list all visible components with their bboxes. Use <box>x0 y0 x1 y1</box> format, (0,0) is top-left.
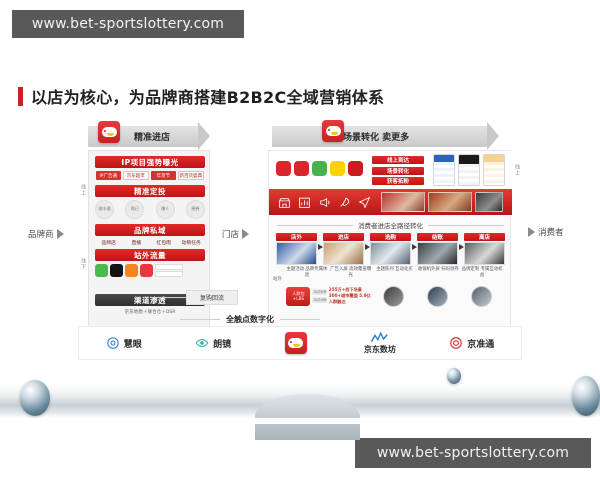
jd-dog-icon <box>285 332 307 354</box>
ip-chip[interactable]: IP广告通 <box>96 171 121 180</box>
detail-caption: 收银机外屏 扫码领券 <box>416 267 460 280</box>
divider-line <box>180 319 220 320</box>
actor-store: 门店 <box>222 228 249 240</box>
meituan-icon[interactable] <box>330 161 345 176</box>
external-app-row <box>95 264 205 277</box>
phone-mockup <box>483 154 505 186</box>
stage-thumb <box>417 242 458 265</box>
private-domain-items: 品牌店 直播 红包雨 动销任务 <box>95 239 205 246</box>
capability-strip <box>269 189 512 215</box>
stage-label: 选购 <box>370 233 411 241</box>
repurchase-loop-label: 复购回流 <box>186 290 238 305</box>
left-axis-offline: 线下 <box>80 258 87 270</box>
private-domain-item: 动销任务 <box>178 239 206 246</box>
right-axis-online: 线上 <box>514 164 521 176</box>
section-title-precision: 精准定投 <box>95 185 205 197</box>
detail-photo <box>383 286 404 307</box>
digital-title-row: 全触点数字化 <box>180 314 320 325</box>
digital-tool-jdshufang[interactable]: 京东数坊 <box>364 331 396 355</box>
divider-line <box>280 319 320 320</box>
right-axis-offline: 站外 <box>272 277 283 283</box>
wechat-icon[interactable] <box>95 264 108 277</box>
banner-full-scene: 全场景转化 卖更多 <box>272 126 487 147</box>
divider-line <box>428 225 504 226</box>
stage-label: 店外 <box>276 233 317 241</box>
stage-thumb <box>464 242 505 265</box>
precision-circle[interactable]: 购已 <box>125 200 144 219</box>
detail-body <box>416 282 460 310</box>
left-panel: IP项目强势曝光 IP广告通 京东超市 年货节 新百货盛典 精准定投 顺丰通 购… <box>88 150 210 338</box>
target-ring-icon <box>449 336 463 350</box>
digital-tool-label: 京准通 <box>467 337 494 350</box>
title-text: 以店为核心，为品牌商搭建B2B2C全域营销体系 <box>31 84 384 108</box>
stage-thumb <box>370 242 411 265</box>
detail-stats: 255万+线下场景 300+城市覆盖 5.9亿人群触达 <box>329 287 373 305</box>
digital-tool-label: 朗镜 <box>213 337 231 350</box>
diagram-canvas: 品牌商 门店 消费者 精准进店 全场景转化 卖更多 线上 线下 IP项目强势曝光… <box>0 118 600 368</box>
ip-chip[interactable]: 年货节 <box>151 171 176 180</box>
arrow-right-icon <box>242 229 249 239</box>
arrow-right-icon <box>57 229 64 239</box>
eye-scan-icon <box>195 336 209 350</box>
actor-brand: 品牌商 <box>28 228 64 240</box>
digital-tool-jd-logo[interactable] <box>285 332 311 354</box>
circle-eye-icon <box>106 336 120 350</box>
stage-item[interactable]: 离店 <box>464 233 505 265</box>
ip-chip[interactable]: 京东超市 <box>123 171 150 180</box>
stage-label: 进店 <box>323 233 364 241</box>
private-domain-item: 直播 <box>123 239 151 246</box>
phone-mockups <box>433 154 505 186</box>
banner-right-label: 全场景转化 卖更多 <box>334 130 409 143</box>
glass-bead-icon <box>572 376 600 416</box>
ip-chip[interactable]: 新百货盛典 <box>178 171 205 180</box>
detail-caption: 品牌定制 专属互动权益 <box>460 267 504 280</box>
chart-bars-icon[interactable] <box>298 196 311 209</box>
video-platform-icons[interactable] <box>155 264 183 277</box>
right-tag[interactable]: 场景转化 <box>372 167 424 175</box>
pill: 到店领券 <box>312 297 327 303</box>
digital-tool-label: 慧眼 <box>124 337 142 350</box>
detail-col: 广告入屏 高效覆盖曝光 255万+线下场景 300+城市覆盖 5.9亿人群触达 <box>329 267 373 310</box>
jd-app-icon[interactable] <box>276 161 291 176</box>
left-axis-online: 线上 <box>80 184 87 196</box>
stage-thumb <box>323 242 364 265</box>
paper-plane-icon[interactable] <box>358 196 371 209</box>
lbs-badge: 人群包 +LBS <box>286 287 310 306</box>
actor-consumer-label: 消费者 <box>538 226 564 238</box>
private-domain-item: 品牌店 <box>95 239 123 246</box>
kuaishou-icon[interactable] <box>125 264 138 277</box>
band-mask <box>0 418 600 424</box>
detail-caption: 主题陈列 互动化买 <box>373 267 417 280</box>
divider-line <box>277 225 353 226</box>
stage-item[interactable]: 店外 <box>276 233 317 265</box>
coupon-icon[interactable] <box>348 161 363 176</box>
stage-label: 离店 <box>464 233 505 241</box>
watermark-bottom: www.bet-sportslottery.com <box>355 438 591 468</box>
jd-dog-icon <box>322 120 344 142</box>
glass-bead-icon <box>20 380 50 416</box>
capability-screenshots <box>381 192 503 212</box>
right-panel: 线上到达 场景转化 获客拓粉 <box>268 150 511 338</box>
glossy-dome <box>255 394 360 440</box>
actor-store-label: 门店 <box>222 228 239 240</box>
private-domain-item: 红包雨 <box>150 239 178 246</box>
digital-tool-huiyan[interactable]: 慧眼 <box>106 336 142 350</box>
watermark-top: www.bet-sportslottery.com <box>12 10 244 38</box>
digital-tool-langjing[interactable]: 朗镜 <box>195 336 231 350</box>
right-tag-list: 线上到达 场景转化 获客拓粉 <box>372 156 424 188</box>
digital-tool-jingzhuntong[interactable]: 京准通 <box>449 336 494 350</box>
eleme-icon[interactable] <box>312 161 327 176</box>
detail-col: 主题陈列 互动化买 <box>373 267 417 310</box>
glass-bead-icon <box>447 368 461 384</box>
campaign-thumb <box>381 192 425 212</box>
title-accent-bar <box>18 87 23 106</box>
path-title-row: 消费者进店全路径转化 <box>277 219 504 231</box>
ip-chip-row: IP广告通 京东超市 年货节 新百货盛典 <box>95 171 205 180</box>
detail-col: 收银机外屏 扫码领券 <box>416 267 460 310</box>
digital-tool-label: 京东数坊 <box>364 344 396 355</box>
right-tag[interactable]: 获客拓粉 <box>372 177 424 185</box>
detail-col: 品牌定制 专属互动权益 <box>460 267 504 310</box>
precision-circle[interactable]: 圈券 <box>186 200 205 219</box>
stage-item[interactable]: 选购 <box>370 233 411 265</box>
stage-item[interactable]: 结账 <box>417 233 458 265</box>
detail-row: 主题活动 品牌专属体验 人群包 +LBS 到店到家 到店领券 广告入屏 高效覆盖… <box>285 267 504 310</box>
campaign-thumb <box>475 192 503 212</box>
decorative-band <box>0 368 600 418</box>
right-top-area: 线上到达 场景转化 获客拓粉 <box>269 151 512 189</box>
right-app-row <box>276 161 363 176</box>
store-icon[interactable] <box>278 196 291 209</box>
detail-body: 人群包 +LBS 到店到家 到店领券 <box>285 282 329 310</box>
detail-photo <box>427 286 448 307</box>
digital-title: 全触点数字化 <box>220 314 280 325</box>
detail-caption: 广告入屏 高效覆盖曝光 <box>329 267 373 280</box>
right-tag[interactable]: 线上到达 <box>372 156 424 164</box>
tiktok-icon[interactable] <box>110 264 123 277</box>
section-title-private-domain: 品牌私域 <box>95 224 205 236</box>
jd-dog-icon <box>98 121 120 143</box>
section-title-external-traffic: 站外流量 <box>95 249 205 261</box>
arrow-right-icon <box>528 227 535 237</box>
rocket-icon[interactable] <box>338 196 351 209</box>
digital-tools-row: 慧眼 朗镜 京东数坊 京准通 <box>78 326 522 360</box>
stage-item[interactable]: 进店 <box>323 233 364 265</box>
detail-photo <box>471 286 492 307</box>
stage-thumb <box>276 242 317 265</box>
precision-circle-row: 顺丰通 购已 爆人 圈券 <box>95 200 205 219</box>
page-title: 以店为核心，为品牌商搭建B2B2C全域营销体系 <box>18 84 384 108</box>
actor-consumer: 消费者 <box>528 226 564 238</box>
chart-spark-icon <box>370 331 390 344</box>
capability-icon-row <box>278 196 371 209</box>
detail-col: 主题活动 品牌专属体验 人群包 +LBS 到店到家 到店领券 <box>285 267 329 310</box>
pill-group: 到店到家 到店领券 <box>312 289 327 303</box>
xiaohongshu-icon[interactable] <box>140 264 153 277</box>
actor-brand-label: 品牌商 <box>28 228 54 240</box>
phone-mockup <box>433 154 455 186</box>
banner-left-label: 精准进店 <box>134 130 170 143</box>
detail-caption: 主题活动 品牌专属体验 <box>285 267 329 280</box>
precision-circle[interactable]: 顺丰通 <box>95 200 114 219</box>
detail-body <box>373 282 417 310</box>
jd-daojia-icon[interactable] <box>294 161 309 176</box>
detail-body: 255万+线下场景 300+城市覆盖 5.9亿人群触达 <box>329 282 373 310</box>
path-title: 消费者进店全路径转化 <box>353 220 428 230</box>
campaign-thumb <box>428 192 472 212</box>
pill: 到店到家 <box>312 289 327 295</box>
loop-connector <box>150 297 188 298</box>
megaphone-icon[interactable] <box>318 196 331 209</box>
section-title-ip: IP项目强势曝光 <box>95 156 205 168</box>
phone-mockup <box>458 154 480 186</box>
stage-row: 店外 进店 选购 结账 离店 <box>276 233 505 265</box>
precision-circle[interactable]: 爆人 <box>156 200 175 219</box>
stage-label: 结账 <box>417 233 458 241</box>
detail-body <box>460 282 504 310</box>
